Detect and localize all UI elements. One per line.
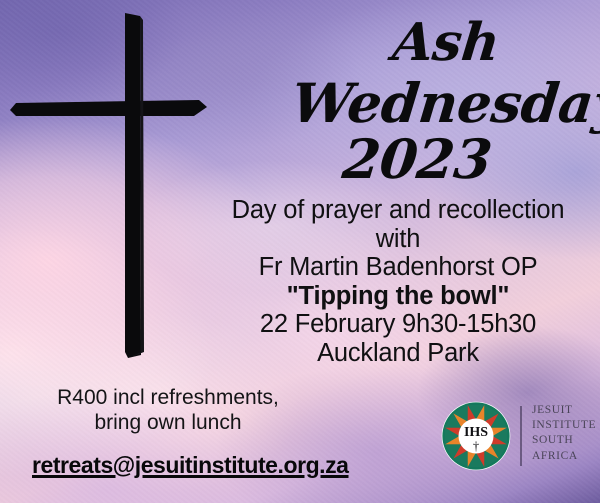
detail-line-prayer: Day of prayer and recollection — [200, 196, 596, 225]
logo-word-institute: INSTITUTE — [532, 418, 596, 433]
pricing-line-cost: R400 incl refreshments, — [18, 385, 318, 410]
logo-word-africa: AFRICA — [532, 449, 596, 464]
ihs-sunburst-icon: IHS † — [441, 401, 511, 471]
contact-email-link[interactable]: retreats@jesuitinstitute.org.za — [32, 452, 349, 479]
ash-wednesday-poster: Ash Wednesday 2023 Day of prayer and rec… — [0, 0, 600, 503]
logo-word-jesuit: JESUIT — [532, 403, 596, 418]
pricing-line-lunch: bring own lunch — [18, 410, 318, 435]
title-line-year: 2023 — [340, 132, 494, 186]
detail-line-venue: Auckland Park — [200, 339, 596, 368]
detail-line-speaker: Fr Martin Badenhorst OP — [200, 253, 596, 282]
detail-line-with: with — [200, 225, 596, 254]
event-details-block: Day of prayer and recollection with Fr M… — [200, 196, 596, 367]
logo-divider — [520, 406, 522, 466]
ihs-monogram: IHS — [464, 425, 488, 440]
logo-wordmark: JESUIT INSTITUTE SOUTH AFRICA — [532, 403, 596, 464]
logo-word-south: SOUTH — [532, 433, 596, 448]
title-line-ash: Ash — [390, 17, 501, 69]
ihs-cross-glyph: † — [473, 439, 479, 453]
title-line-wednesday: Wednesday — [289, 76, 600, 130]
detail-line-theme: "Tipping the bowl" — [200, 282, 596, 311]
jesuit-institute-logo: IHS † JESUIT INSTITUTE SOUTH AFRICA — [441, 399, 593, 477]
detail-line-datetime: 22 February 9h30-15h30 — [200, 310, 596, 339]
pricing-block: R400 incl refreshments, bring own lunch — [18, 385, 318, 435]
